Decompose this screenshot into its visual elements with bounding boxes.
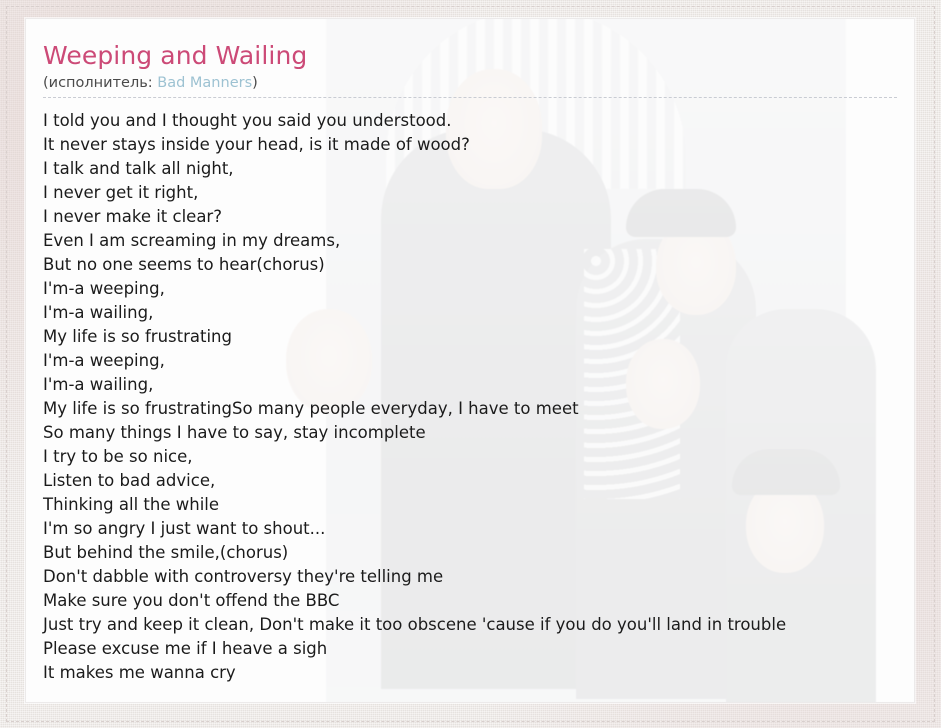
- lyric-line: Please excuse me if I heave a sigh: [43, 637, 914, 661]
- lyric-line: But no one seems to hear(chorus): [43, 253, 914, 277]
- lyric-line: Don't dabble with controversy they're te…: [43, 565, 914, 589]
- lyric-line: Even I am screaming in my dreams,: [43, 229, 914, 253]
- lyric-line: It never stays inside your head, is it m…: [43, 133, 914, 157]
- lyric-line: But behind the smile,(chorus): [43, 541, 914, 565]
- lyric-line: Listen to bad advice,: [43, 469, 914, 493]
- lyrics-text: I told you and I thought you said you un…: [26, 98, 914, 685]
- artist-suffix-label: ): [252, 75, 258, 91]
- lyrics-card: Weeping and Wailing (исполнитель: Bad Ma…: [25, 18, 915, 703]
- artist-link[interactable]: Bad Manners: [157, 75, 252, 92]
- lyric-line: Thinking all the while: [43, 493, 914, 517]
- lyric-line: So many things I have to say, stay incom…: [43, 421, 914, 445]
- lyric-line: I never get it right,: [43, 181, 914, 205]
- lyric-line: I'm-a weeping,: [43, 349, 914, 373]
- lyric-line: My life is so frustratingSo many people …: [43, 397, 914, 421]
- lyric-line: I'm-a wailing,: [43, 301, 914, 325]
- artist-prefix-label: (исполнитель:: [43, 75, 157, 91]
- lyric-line: Just try and keep it clean, Don't make i…: [43, 613, 914, 637]
- lyric-line: I try to be so nice,: [43, 445, 914, 469]
- page-title: Weeping and Wailing: [43, 41, 890, 71]
- lyric-line: I'm-a weeping,: [43, 277, 914, 301]
- artist-line: (исполнитель: Bad Manners): [43, 74, 890, 93]
- card-header: Weeping and Wailing (исполнитель: Bad Ma…: [26, 19, 914, 93]
- lyric-line: I told you and I thought you said you un…: [43, 109, 914, 133]
- lyric-line: I'm so angry I just want to shout...: [43, 517, 914, 541]
- lyric-line: It makes me wanna cry: [43, 661, 914, 685]
- lyric-line: I'm-a wailing,: [43, 373, 914, 397]
- lyric-line: I never make it clear?: [43, 205, 914, 229]
- lyric-line: My life is so frustrating: [43, 325, 914, 349]
- lyric-line: Make sure you don't offend the BBC: [43, 589, 914, 613]
- lyric-line: I talk and talk all night,: [43, 157, 914, 181]
